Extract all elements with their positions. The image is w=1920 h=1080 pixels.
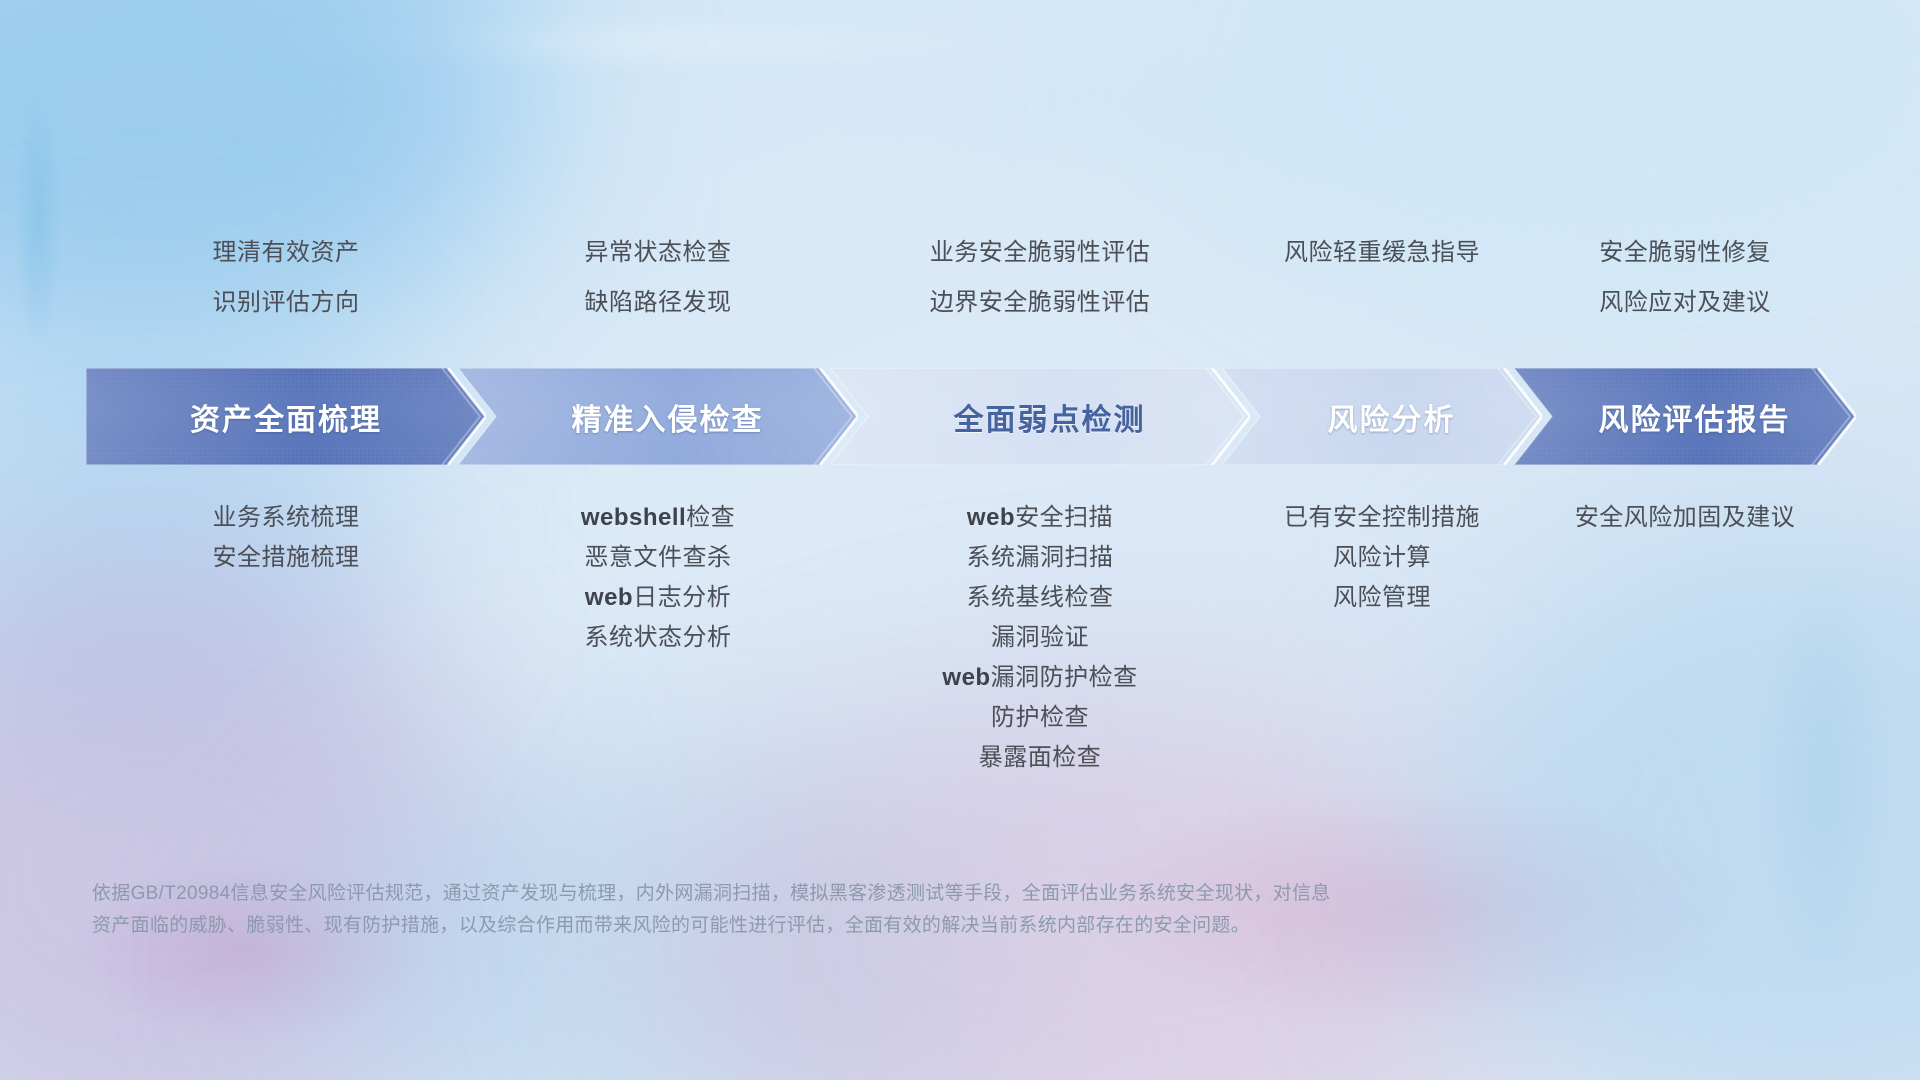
bottom-item: 系统漏洞扫描 bbox=[967, 538, 1114, 578]
footer-description: 依据GB/T20984信息安全风险评估规范，通过资产发现与梳理，内外网漏洞扫描，… bbox=[92, 878, 1732, 942]
bottom-item-keyword: webshell bbox=[581, 504, 686, 531]
top-items-asset-inventory: 理清有效资产识别评估方向 bbox=[86, 228, 486, 328]
top-item: 安全脆弱性修复 bbox=[1599, 228, 1771, 278]
bottom-item: 安全风险加固及建议 bbox=[1575, 498, 1796, 538]
top-items-risk-analysis: 风险轻重缓急指导 bbox=[1222, 228, 1542, 278]
top-items-risk-report: 安全脆弱性修复风险应对及建议 bbox=[1514, 228, 1856, 328]
top-item: 异常状态检查 bbox=[585, 228, 732, 278]
bottom-items-risk-analysis: 已有安全控制措施风险计算风险管理 bbox=[1222, 498, 1542, 618]
chevron-label: 精准入侵检查 bbox=[572, 395, 764, 439]
chevron-stage-asset-inventory[interactable]: 资产全面梳理 bbox=[86, 368, 486, 465]
bottom-item: 系统基线检查 bbox=[967, 578, 1114, 618]
top-items-weakness-detection: 业务安全脆弱性评估边界安全脆弱性评估 bbox=[830, 228, 1250, 328]
bottom-item: 风险计算 bbox=[1333, 538, 1431, 578]
top-item: 业务安全脆弱性评估 bbox=[930, 228, 1151, 278]
chevron-label: 全面弱点检测 bbox=[954, 395, 1146, 439]
top-item: 缺陷路径发现 bbox=[585, 278, 732, 328]
top-items-intrusion-check: 异常状态检查缺陷路径发现 bbox=[458, 228, 858, 328]
chevron-stage-risk-report[interactable]: 风险评估报告 bbox=[1514, 368, 1856, 465]
chevron-label: 资产全面梳理 bbox=[190, 395, 382, 439]
bottom-item: 恶意文件查杀 bbox=[585, 538, 732, 578]
slide-canvas: 理清有效资产识别评估方向异常状态检查缺陷路径发现业务安全脆弱性评估边界安全脆弱性… bbox=[0, 0, 1920, 1080]
bottom-items-risk-report: 安全风险加固及建议 bbox=[1514, 498, 1856, 538]
bottom-item-keyword: web bbox=[967, 504, 1015, 531]
bottom-item: 风险管理 bbox=[1333, 578, 1431, 618]
chevron-stage-risk-analysis[interactable]: 风险分析 bbox=[1222, 368, 1542, 465]
top-item: 理清有效资产 bbox=[213, 228, 360, 278]
bottom-items-intrusion-check: webshell检查恶意文件查杀web日志分析系统状态分析 bbox=[458, 498, 858, 658]
bottom-item: 防护检查 bbox=[991, 698, 1089, 738]
chevron-stage-weakness-detection[interactable]: 全面弱点检测 bbox=[830, 368, 1250, 465]
process-chevron-banner: 资产全面梳理 精准入侵检查 bbox=[86, 368, 1856, 465]
bottom-item: web安全扫描 bbox=[967, 498, 1113, 538]
bottom-item: 漏洞验证 bbox=[991, 618, 1089, 658]
bottom-item-keyword: web bbox=[942, 664, 990, 691]
bottom-item-text: 日志分析 bbox=[633, 584, 731, 611]
top-item: 风险应对及建议 bbox=[1599, 278, 1771, 328]
bottom-item: 系统状态分析 bbox=[585, 618, 732, 658]
bottom-item-text: 安全扫描 bbox=[1015, 504, 1113, 531]
bottom-item: web漏洞防护检查 bbox=[942, 658, 1137, 698]
bottom-items-weakness-detection: web安全扫描系统漏洞扫描系统基线检查漏洞验证web漏洞防护检查防护检查暴露面检… bbox=[830, 498, 1250, 778]
chevron-label: 风险评估报告 bbox=[1599, 395, 1791, 439]
bottom-item: web日志分析 bbox=[585, 578, 731, 618]
chevron-stage-intrusion-check[interactable]: 精准入侵检查 bbox=[458, 368, 858, 465]
bottom-item: 暴露面检查 bbox=[979, 738, 1102, 778]
top-item: 识别评估方向 bbox=[213, 278, 360, 328]
footer-line-2: 资产面临的威胁、脆弱性、现有防护措施，以及综合作用而带来风险的可能性进行评估，全… bbox=[92, 910, 1732, 942]
bottom-item: 已有安全控制措施 bbox=[1284, 498, 1480, 538]
top-item: 风险轻重缓急指导 bbox=[1284, 228, 1480, 278]
top-item: 边界安全脆弱性评估 bbox=[930, 278, 1151, 328]
bottom-items-asset-inventory: 业务系统梳理安全措施梳理 bbox=[86, 498, 486, 578]
chevron-label: 风险分析 bbox=[1328, 395, 1456, 439]
footer-line-1: 依据GB/T20984信息安全风险评估规范，通过资产发现与梳理，内外网漏洞扫描，… bbox=[92, 878, 1732, 910]
bottom-item: 安全措施梳理 bbox=[213, 538, 360, 578]
bottom-item: webshell检查 bbox=[581, 498, 735, 538]
bottom-item-keyword: web bbox=[585, 584, 633, 611]
bottom-item-text: 漏洞防护检查 bbox=[991, 664, 1138, 691]
bottom-item: 业务系统梳理 bbox=[213, 498, 360, 538]
bottom-item-text: 检查 bbox=[686, 504, 735, 531]
